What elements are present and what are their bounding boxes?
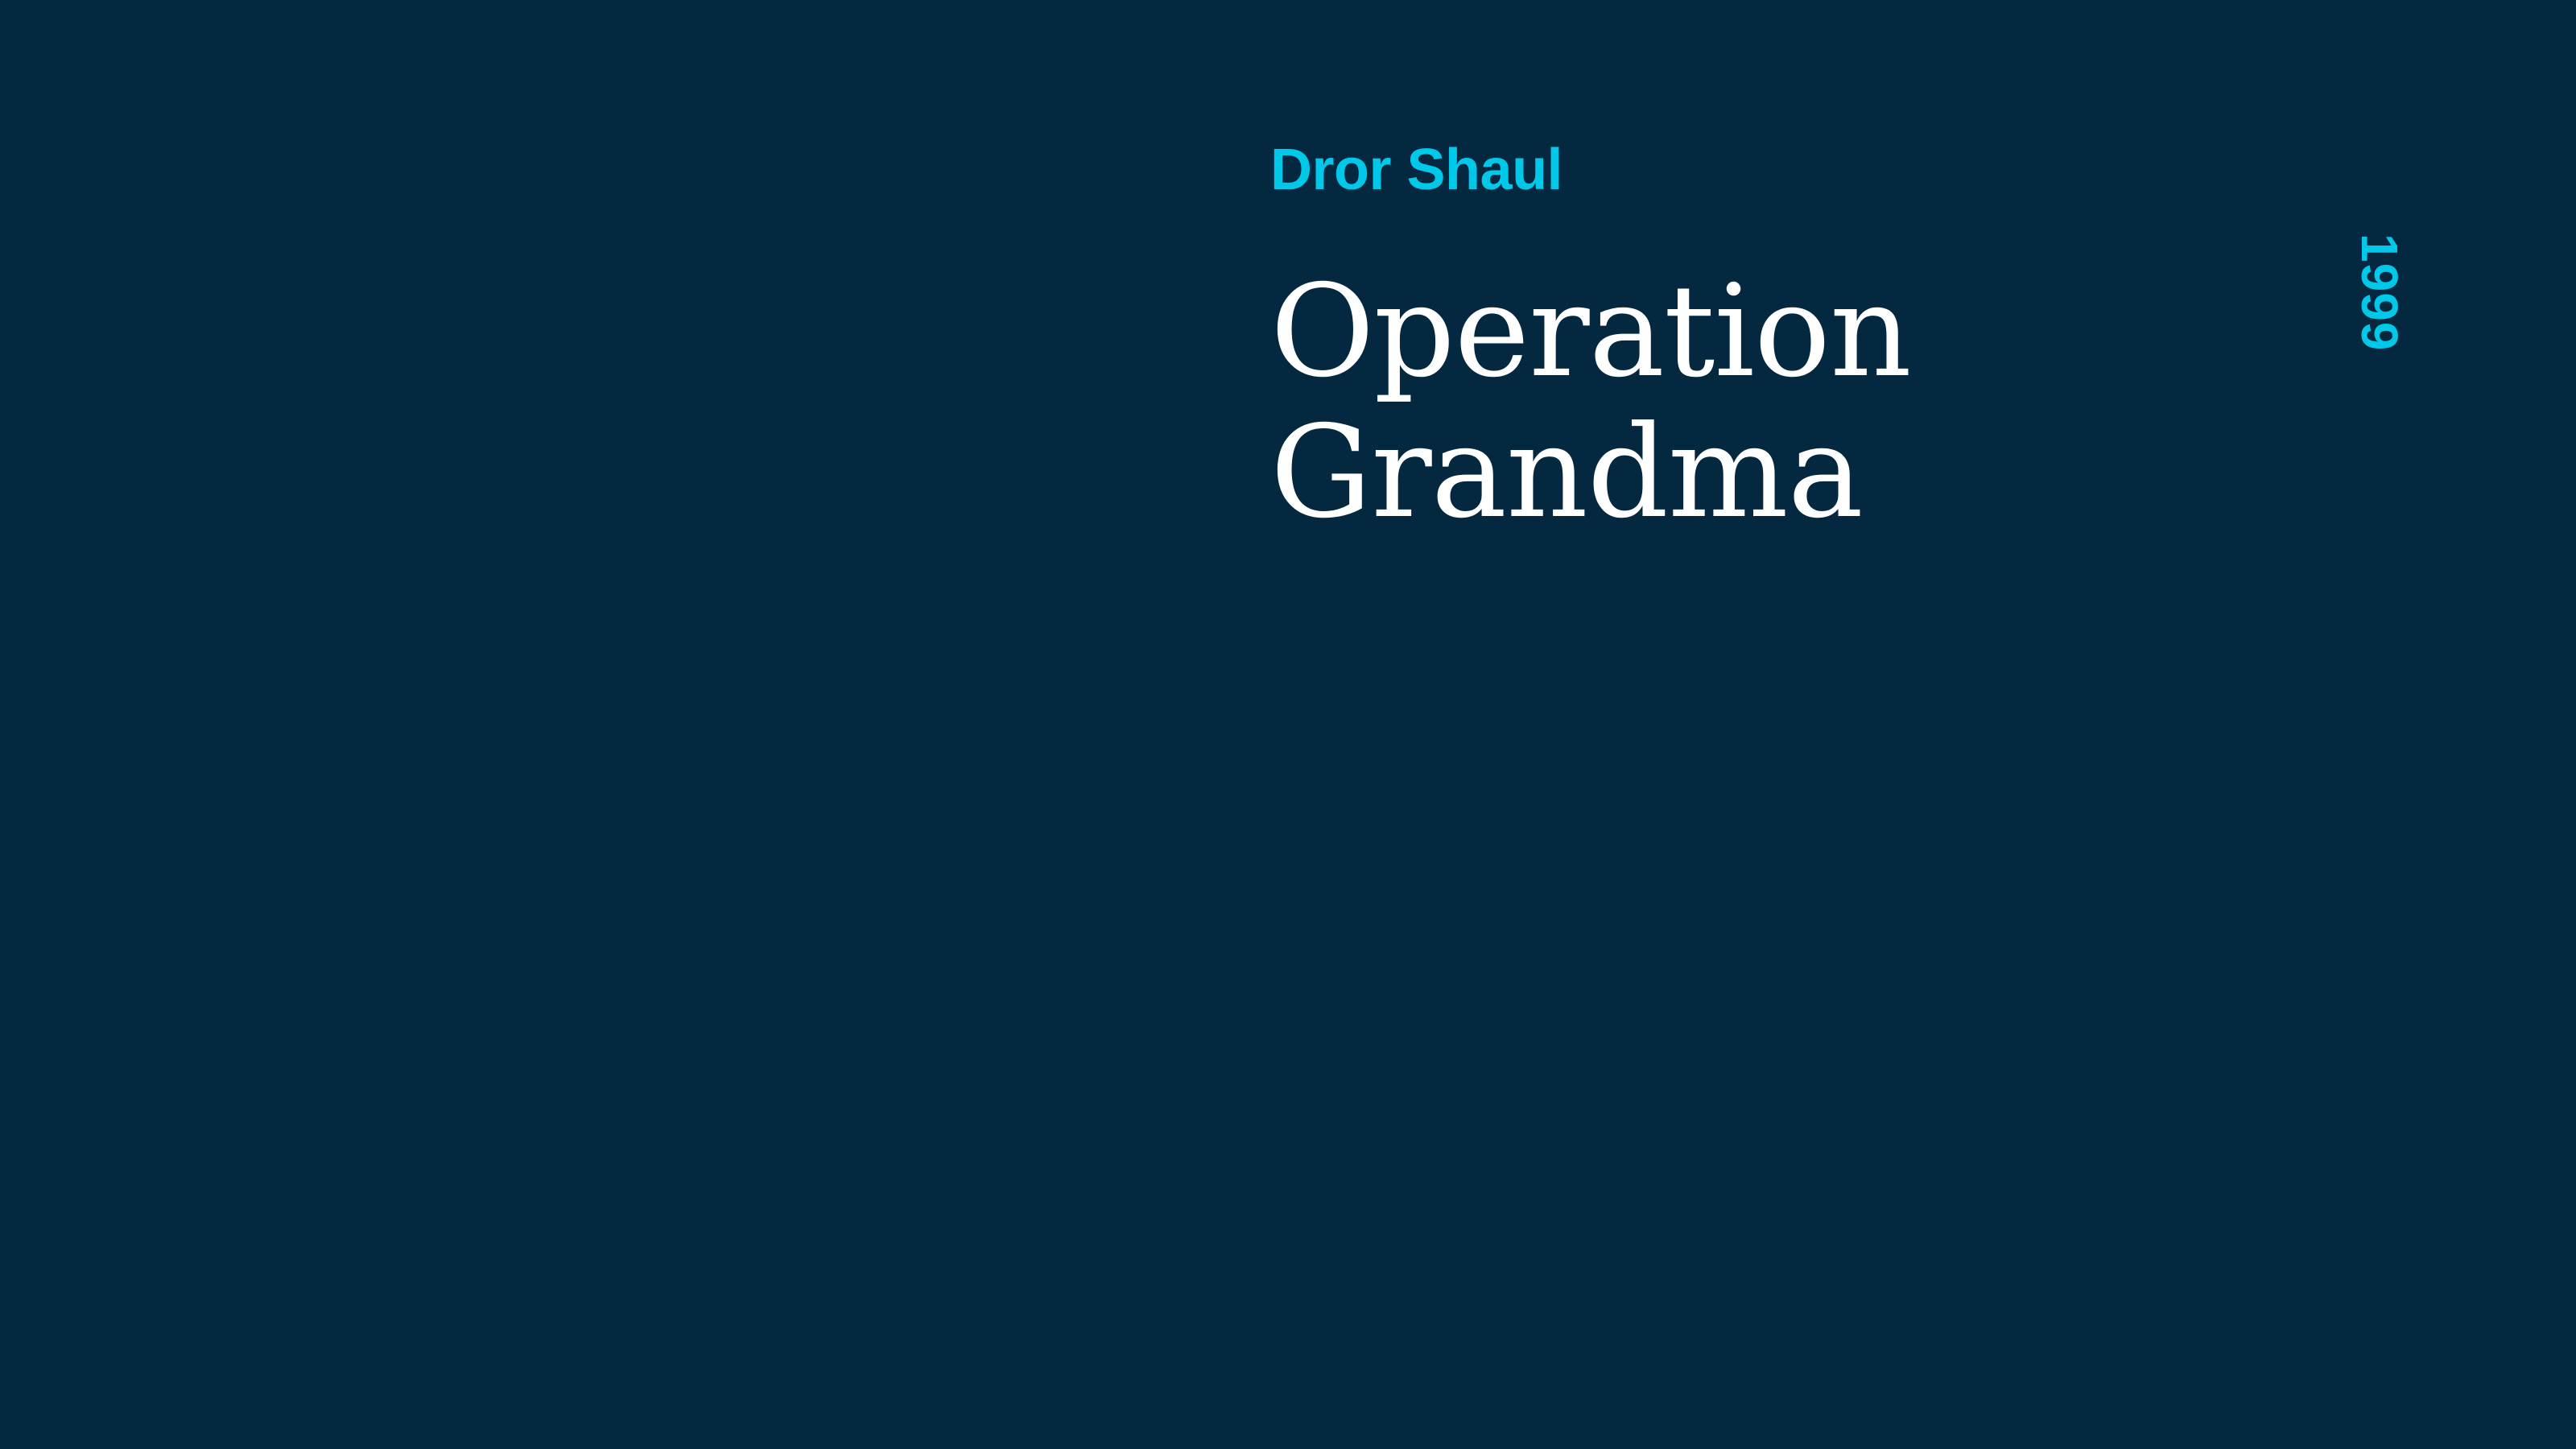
director-name: Dror Shaul [1270,141,2236,199]
title-card-slide: Dror Shaul Operation Grandma 1999 [0,0,2576,1449]
film-year-label: 1999 [2354,233,2405,351]
title-content-block: Dror Shaul Operation Grandma [1270,141,2236,543]
film-title-line-2: Grandma [1270,402,2236,543]
year-rail: 1999 [2405,233,2463,475]
film-title: Operation Grandma [1270,262,2236,543]
film-title-line-1: Operation [1270,262,2236,402]
